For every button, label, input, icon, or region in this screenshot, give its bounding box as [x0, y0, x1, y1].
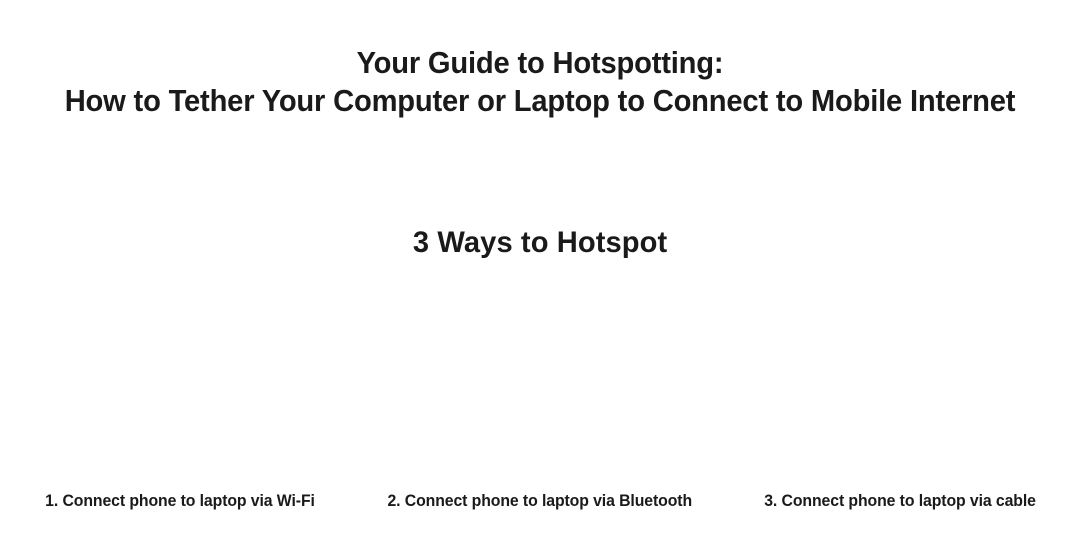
method-column-cable: 3. Connect phone to laptop via cable	[720, 286, 1080, 526]
section-heading: 3 Ways to Hotspot	[0, 224, 1080, 262]
cable-tethering-illustration	[720, 286, 1080, 490]
bluetooth-tethering-illustration	[360, 286, 720, 490]
method-caption-cable: 3. Connect phone to laptop via cable	[764, 490, 1036, 526]
method-column-wifi: 1. Connect phone to laptop via Wi-Fi	[0, 286, 360, 526]
infographic-page: Your Guide to Hotspotting: How to Tether…	[0, 0, 1080, 552]
page-title: Your Guide to Hotspotting: How to Tether…	[0, 44, 1080, 120]
method-caption-wifi: 1. Connect phone to laptop via Wi-Fi	[45, 490, 315, 526]
page-title-line-2: How to Tether Your Computer or Laptop to…	[32, 82, 1047, 120]
methods-columns: 1. Connect phone to laptop via Wi-Fi 2. …	[0, 286, 1080, 526]
wifi-tethering-illustration	[0, 286, 360, 490]
method-column-bluetooth: 2. Connect phone to laptop via Bluetooth	[360, 286, 720, 526]
page-title-line-1: Your Guide to Hotspotting:	[32, 44, 1047, 82]
section-heading-text: 3 Ways to Hotspot	[413, 224, 667, 262]
method-caption-bluetooth: 2. Connect phone to laptop via Bluetooth	[388, 490, 693, 526]
